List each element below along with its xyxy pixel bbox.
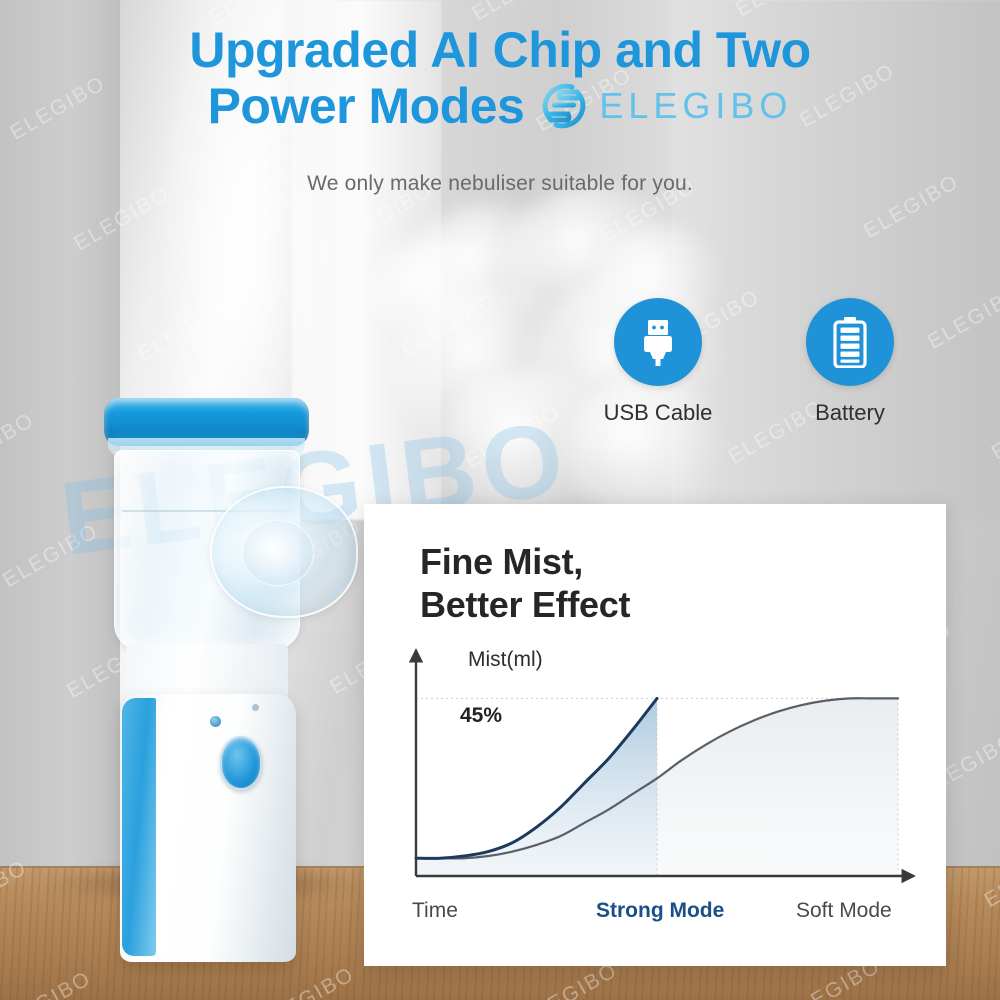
feature-label: Battery [784, 400, 916, 426]
nebuliser-mask-inner [242, 520, 314, 586]
mist-chart: Mist(ml) 45% Time Strong Mode Soft Mode [398, 644, 918, 944]
chart-annotation-45: 45% [460, 704, 502, 728]
page-subtitle: We only make nebuliser suitable for you. [0, 172, 1000, 196]
brand-wordmark: ELEGIBO [599, 86, 792, 126]
brand-logo: ELEGIBO [538, 80, 792, 132]
battery-icon-badge [806, 298, 894, 386]
chart-plot-area [398, 644, 918, 904]
feature-label: USB Cable [592, 400, 724, 426]
chart-tick-soft-mode: Soft Mode [796, 899, 892, 923]
nebuliser-power-button [220, 736, 262, 790]
battery-icon [831, 316, 869, 368]
headline-line-2-row: Power Modes ELEGIBO [0, 78, 1000, 134]
chart-tick-strong-mode: Strong Mode [596, 899, 724, 923]
usb-cable-icon [635, 317, 681, 367]
headline-line-1: Upgraded AI Chip and Two [0, 22, 1000, 78]
chart-x-tick-labels: Time Strong Mode Soft Mode [398, 899, 918, 933]
fine-mist-card: Fine Mist, Better Effect Mist(ml) 45% Ti… [364, 504, 946, 966]
chart-y-axis-label: Mist(ml) [468, 648, 543, 672]
feature-usb-cable: USB Cable [592, 298, 724, 426]
nebuliser-product-image [92, 398, 362, 978]
chart-tick-time: Time [412, 899, 458, 923]
nebuliser-indicator-small [252, 704, 259, 711]
card-title: Fine Mist, Better Effect [420, 540, 630, 626]
nebuliser-indicator-led [210, 716, 221, 727]
page-title: Upgraded AI Chip and Two Power Modes ELE… [0, 22, 1000, 134]
nebuliser-side-panel [122, 698, 156, 956]
feature-battery: Battery [784, 298, 916, 426]
elegibo-globe-logo-icon [538, 80, 590, 132]
usb-cable-icon-badge [614, 298, 702, 386]
headline-line-2: Power Modes [208, 78, 525, 134]
feature-icons-row: USB Cable Battery [592, 298, 916, 426]
